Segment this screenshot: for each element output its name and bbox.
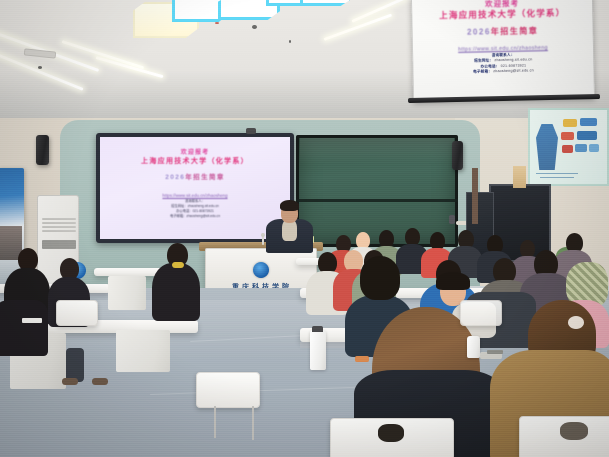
- chair[interactable]: [56, 300, 98, 326]
- microphone-icon: [261, 233, 265, 237]
- banner-contact-3-value: 021-60873921: [501, 63, 527, 68]
- student-hair: [436, 272, 470, 290]
- student-body: [0, 300, 48, 356]
- hair-tie-icon: [568, 316, 584, 329]
- banner-line-3: 2026年招生简章: [419, 24, 587, 39]
- wall-sign-card: [513, 166, 526, 188]
- desk-pedestal: [116, 330, 170, 372]
- banner-contact-1-label: 咨询联系人：: [492, 53, 515, 57]
- classroom-photo: 欢迎报考 上海应用技术大学（化学系） 2026年招生简章 https://www…: [0, 0, 609, 457]
- poster-line: [540, 177, 574, 178]
- poster-chip: [561, 132, 574, 140]
- ac-control-panel[interactable]: [42, 240, 76, 249]
- poster-line: [536, 173, 578, 174]
- poster-chip: [580, 118, 597, 126]
- chair[interactable]: [196, 372, 260, 408]
- chair-cutout: [378, 424, 404, 442]
- wall-speaker-icon: [36, 135, 49, 165]
- student-scarf: [172, 262, 184, 268]
- banner-contact-2-label: 招生网址：: [474, 59, 493, 63]
- poster-figure-icon: [536, 124, 558, 170]
- chair-leg: [214, 406, 216, 438]
- wall-switch-icon: [449, 215, 455, 224]
- student-legs: [66, 348, 84, 382]
- wall-post: [472, 168, 478, 224]
- chair-cutout: [560, 422, 588, 440]
- chalkboard-glare: [300, 138, 454, 164]
- bottle-cap: [312, 326, 323, 332]
- chalkboard-divider: [296, 199, 458, 202]
- student-body: [152, 263, 200, 321]
- university-crest-icon: [253, 262, 269, 278]
- desk-item: [487, 350, 503, 354]
- banner-contact-3-label: 办公电话：: [480, 64, 499, 68]
- desk-pedestal: [108, 276, 146, 310]
- screen-contact-4: 电子邮箱：zhaosheng@sit.edu.cn: [100, 214, 290, 219]
- ac-grill-line: [42, 218, 76, 220]
- screen-line-1: 欢迎报考: [100, 149, 290, 157]
- ceiling-sensor: [215, 22, 219, 24]
- poster-chip: [589, 144, 599, 152]
- screen-line-3-rest: 年招生简章: [185, 174, 225, 181]
- water-bottle[interactable]: [310, 330, 326, 370]
- banner-contact-2-value: zhaosheng.sit.edu.cn: [494, 58, 532, 63]
- ac-grill-line: [42, 222, 76, 224]
- banner-year: 2026: [467, 27, 491, 36]
- ceiling-sensor: [252, 25, 257, 29]
- projection-screen-surface: 欢迎报考 上海应用技术大学（化学系） 2026年招生简章 https://www…: [100, 137, 290, 239]
- wall-poster-board: [528, 108, 609, 186]
- water-bottle[interactable]: [467, 336, 480, 358]
- screen-line-2: 上海应用技术大学（化学系）: [100, 157, 290, 167]
- poster-chip: [575, 144, 587, 152]
- student-shoe: [62, 378, 78, 385]
- banner-line-3-rest: 年招生简章: [491, 26, 539, 36]
- microphone-icon: [262, 236, 264, 245]
- foreground-student-head: [360, 256, 400, 300]
- ceiling-sensor: [38, 66, 42, 69]
- ac-grill-line: [42, 226, 76, 228]
- poster-chip: [562, 145, 573, 153]
- screen-year: 2026: [165, 174, 185, 181]
- projection-screen: 欢迎报考 上海应用技术大学（化学系） 2026年招生简章 https://www…: [96, 133, 294, 243]
- ceiling-camera-icon: [246, 128, 256, 134]
- banner-line-2: 上海应用技术大学（化学系）: [418, 7, 586, 22]
- ceiling-sensor: [289, 40, 291, 43]
- banner-contact-4-value: zhaosheng@sit.edu.cn: [493, 69, 534, 74]
- desk-item: [355, 356, 369, 362]
- chair[interactable]: [460, 300, 502, 326]
- screen-line-3: 2026年招生简章: [100, 173, 290, 183]
- ac-grill-line: [42, 230, 76, 232]
- desk-item: [22, 318, 42, 323]
- presenter-hair: [280, 200, 299, 211]
- poster-chip: [563, 119, 577, 127]
- student-shoe: [92, 378, 108, 385]
- banner-contact-4-label: 电子邮箱：: [473, 69, 492, 73]
- poster-chip: [577, 131, 597, 140]
- chair-leg: [252, 406, 254, 440]
- hanging-banner: 欢迎报考 上海应用技术大学（化学系） 2026年招生简章 https://www…: [411, 0, 595, 102]
- wall-speaker-icon: [452, 141, 463, 170]
